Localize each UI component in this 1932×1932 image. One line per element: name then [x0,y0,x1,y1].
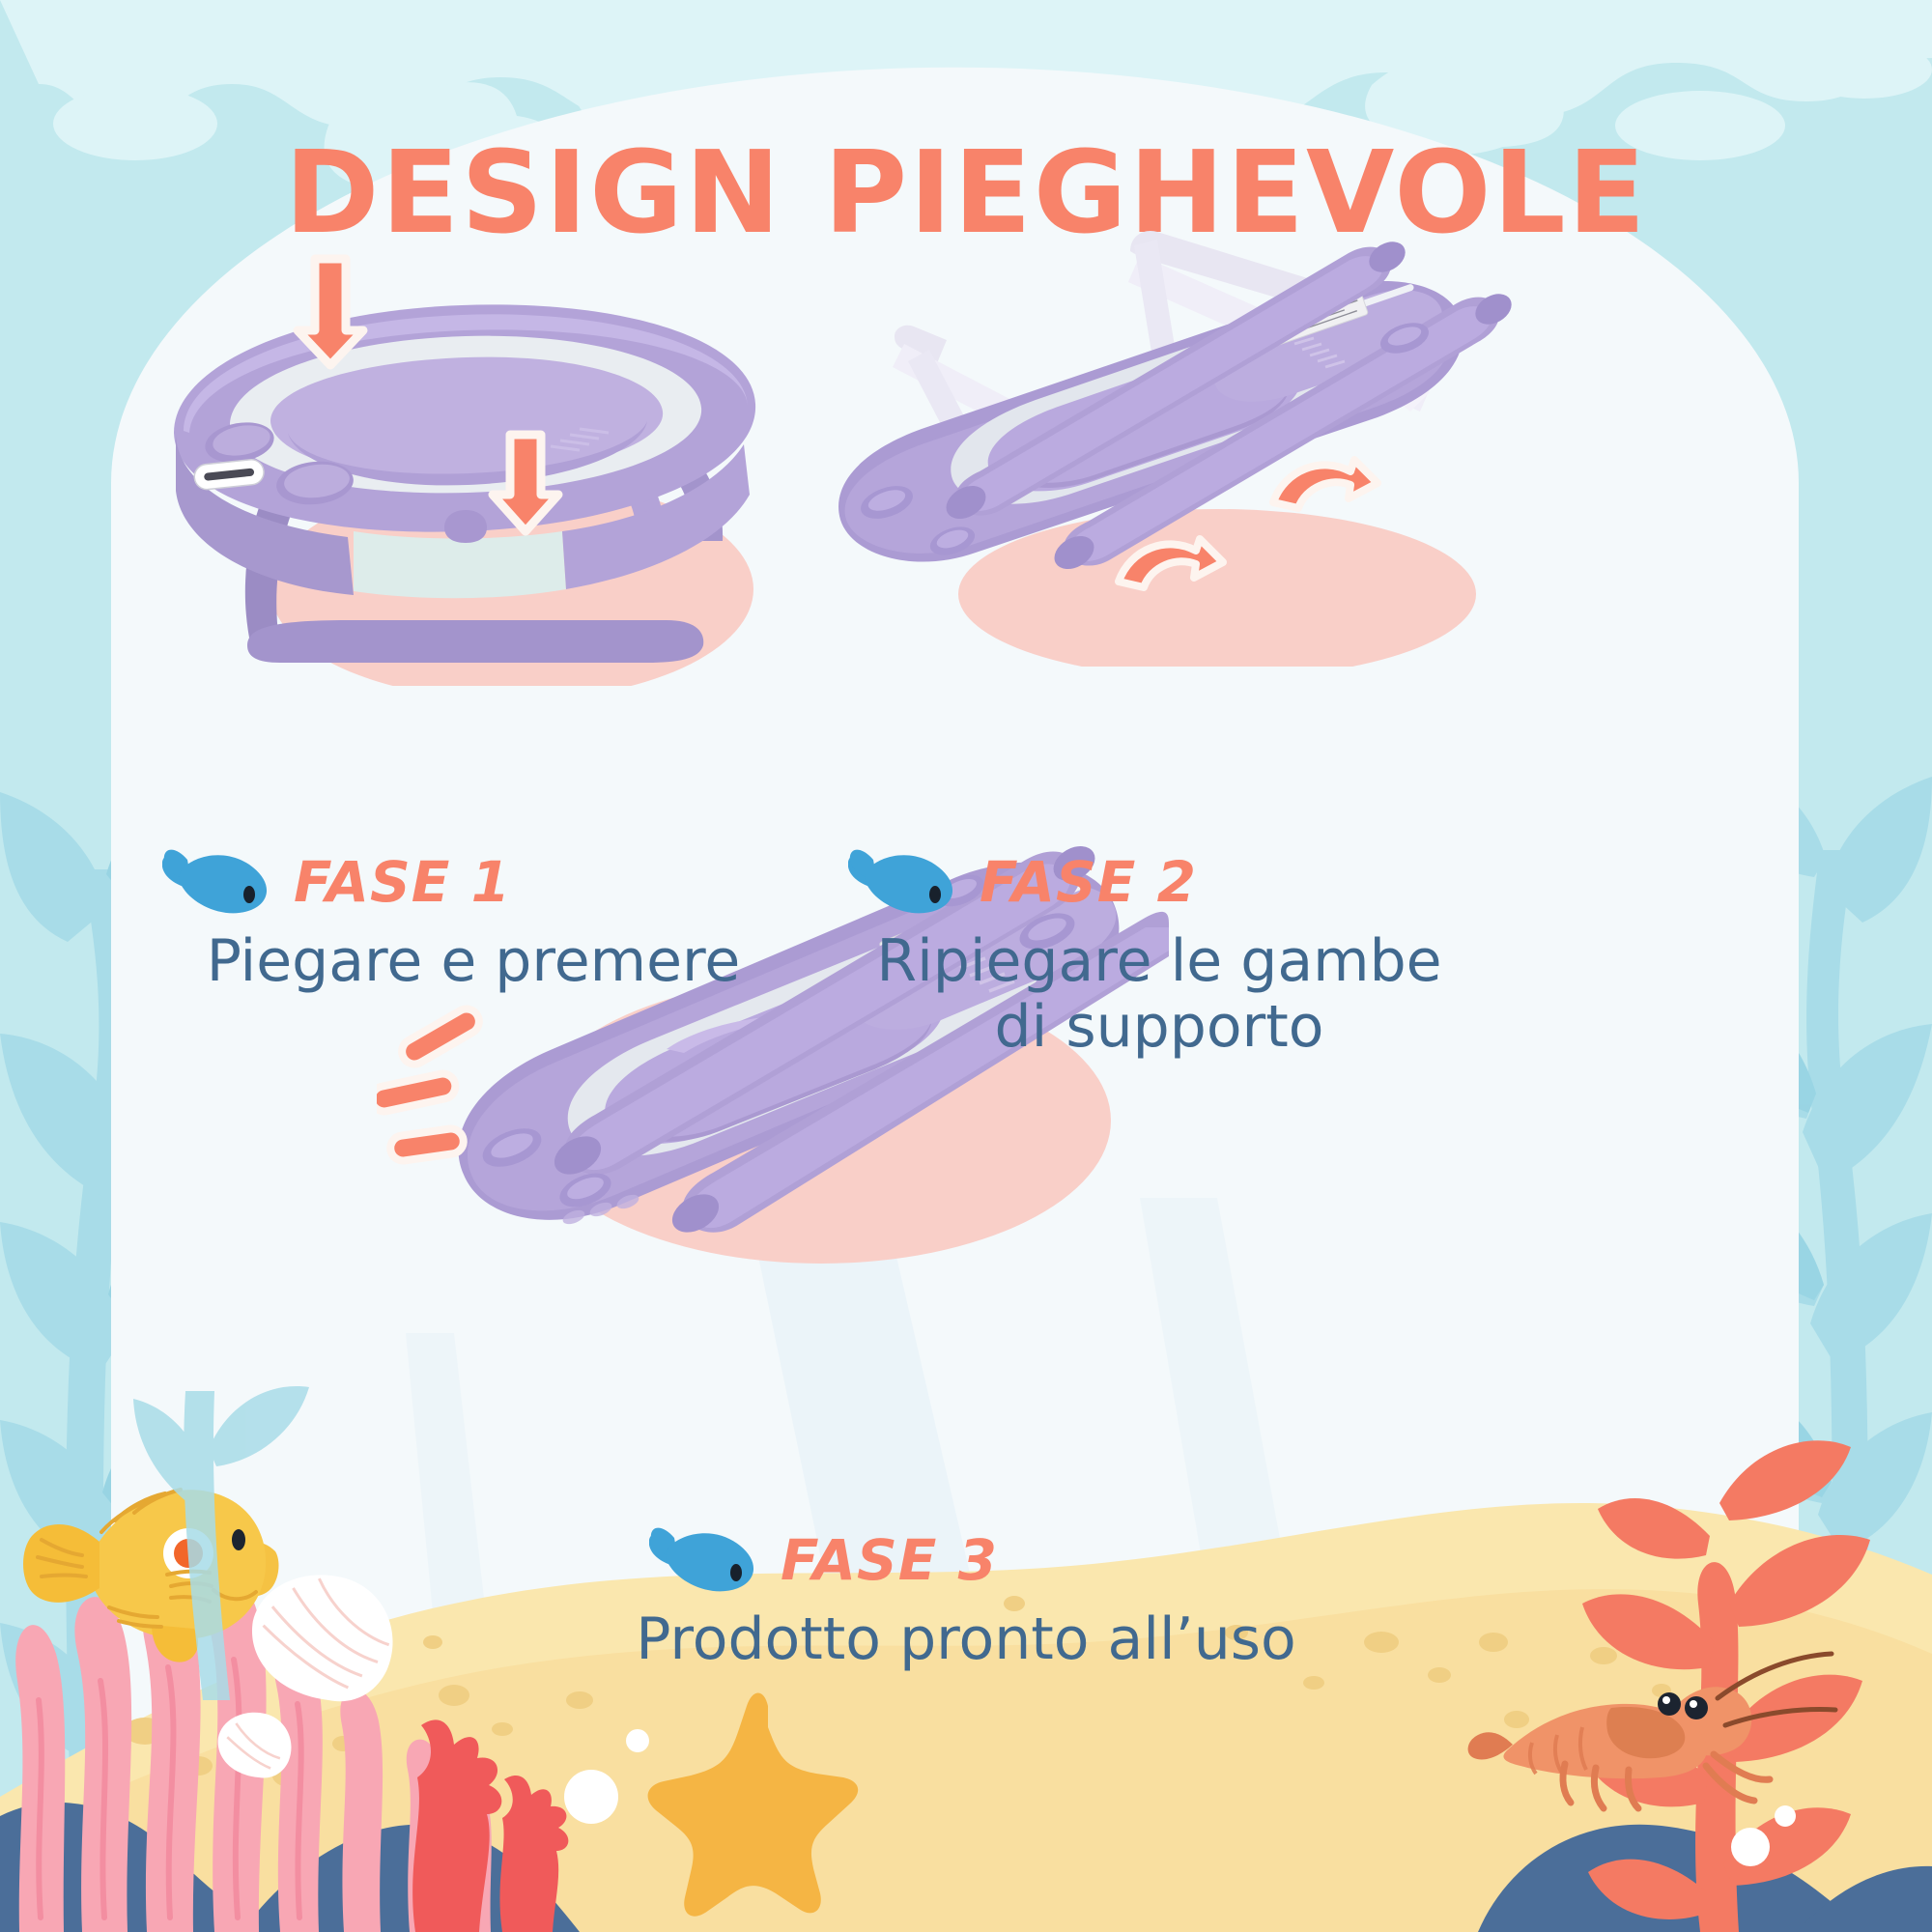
pebble-icon [1731,1828,1770,1866]
phase-label-2: FASE 2 [848,846,1197,918]
step-description-1: Piegare e premere [106,929,840,995]
pebble-icon [626,1729,649,1752]
product-infographic: DESIGN PIEGHEVOLE [0,0,1932,1932]
fase-label: FASE 3 [781,1527,998,1593]
step-description-2: Ripiegare le gambe di supporto [792,929,1526,1061]
product-image-fase-2 [811,213,1526,667]
fish-icon [848,846,962,918]
phase-label-1: FASE 1 [162,846,511,918]
fish-icon [649,1524,763,1596]
pebble-icon [1775,1805,1796,1827]
fish-icon [162,846,276,918]
pebble-icon [564,1770,618,1824]
phase-label-3: FASE 3 [649,1524,998,1596]
step-description-3: Prodotto pronto all’uso [425,1607,1507,1673]
fase-label: FASE 1 [294,849,511,915]
bathtub-open [174,304,755,598]
product-image-fase-1 [126,241,802,686]
fase-label: FASE 2 [980,849,1197,915]
curved-arrow-right [1273,460,1378,508]
